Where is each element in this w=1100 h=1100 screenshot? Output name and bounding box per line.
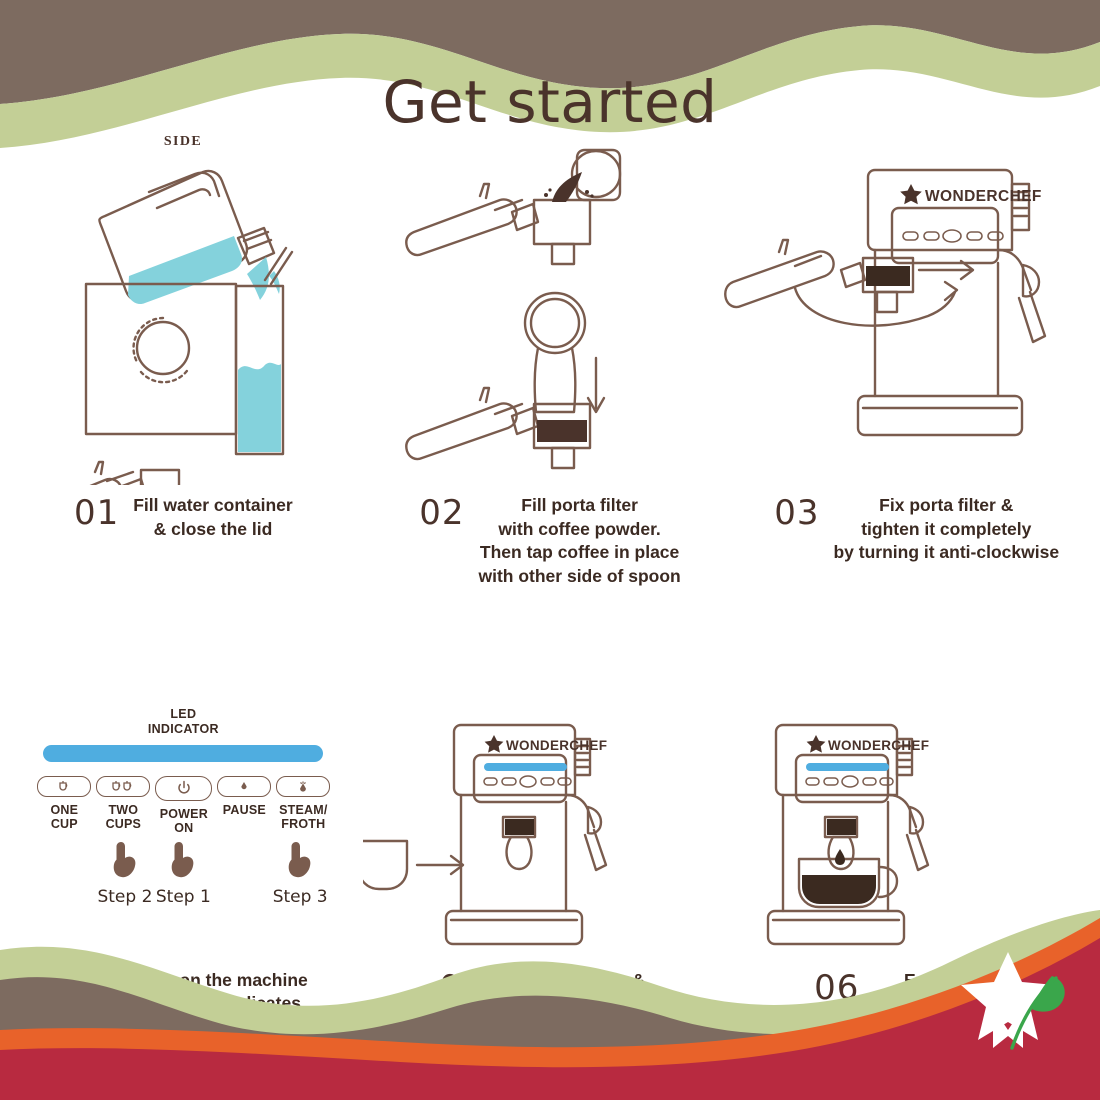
hand-slot-steam <box>271 841 329 885</box>
step-03-text: Fix porta filter & tighten it completely… <box>833 494 1059 565</box>
pause-label-1: PAUSE <box>223 803 266 817</box>
page-title: Get started <box>0 68 1100 136</box>
steps-row-1: SIDE <box>0 140 1100 589</box>
step-03-illustration: WONDERCHEF <box>733 140 1100 490</box>
step-card-04: LED INDICATOR ONE CUP <box>0 697 367 1064</box>
led-button-one-cup[interactable]: ONE CUP <box>37 776 91 835</box>
led-button-pause[interactable]: PAUSE <box>217 776 271 835</box>
step-03-line-3: by turning it anti-clockwise <box>833 541 1059 565</box>
led-button-row: ONE CUP TWO CUPS <box>37 776 329 835</box>
steam-froth-icon[interactable] <box>276 776 330 797</box>
step-06-line-4: with steamer <box>873 1039 1019 1063</box>
two-cups-label-1: TWO <box>106 803 142 817</box>
one-cup-label: ONE CUP <box>50 803 78 831</box>
led-indicator-panel: LED INDICATOR ONE CUP <box>33 697 333 907</box>
step-card-05: WONDERCHEF 05 <box>367 697 734 1064</box>
step-card-06: WONDERCHEF 06 <box>733 697 1100 1064</box>
power-label-1: POWER <box>160 807 208 821</box>
step-05-line-1: Place the cup & <box>498 969 660 993</box>
one-cup-label-2: CUP <box>50 817 78 831</box>
pointing-hand-icon <box>287 841 313 879</box>
step-02-line-1: Fill porta filter <box>479 494 681 518</box>
pointing-hand-icon <box>112 841 138 879</box>
steam-label-1: STEAM/ <box>279 803 327 817</box>
step-01-caption: 01 Fill water container & close the lid <box>0 490 367 541</box>
pointing-hands-row <box>37 841 329 885</box>
pause-icon[interactable] <box>217 776 271 797</box>
step-05-number: 05 <box>439 969 484 1005</box>
led-title-line-1: LED <box>33 707 333 722</box>
step-03-line-1: Fix porta filter & <box>833 494 1059 518</box>
hand-slot-pause <box>213 841 271 885</box>
step-03-caption: 03 Fix porta filter & tighten it complet… <box>733 490 1100 565</box>
step-06-caption: 06 Enjoy rich Espresso!!! Make cappuccin… <box>733 965 1100 1064</box>
two-cups-label: TWO CUPS <box>106 803 142 831</box>
step-01-line-1: Fill water container <box>133 494 292 518</box>
step-04-line-3: that machine is ready <box>118 1016 308 1040</box>
step-04-line-2: & blue light indicates <box>118 992 308 1016</box>
step-06-line-3: Make cappuccino <box>873 1016 1019 1040</box>
led-button-steam-froth[interactable]: STEAM/ FROTH <box>276 776 330 835</box>
step-05-line-2: select no. of serves <box>498 992 660 1016</box>
step-02-number: 02 <box>419 494 464 530</box>
hand-slot-two-cups <box>96 841 154 885</box>
led-title-line-2: INDICATOR <box>33 722 333 737</box>
two-cups-icon[interactable] <box>96 776 150 797</box>
brand-text-05: WONDERCHEF <box>506 738 607 753</box>
hand-slot-one-cup <box>37 841 95 885</box>
power-label-2: ON <box>160 821 208 835</box>
step-04-text: Switch on the machine & blue light indic… <box>118 969 308 1040</box>
led-button-two-cups[interactable]: TWO CUPS <box>96 776 150 835</box>
steam-froth-label: STEAM/ FROTH <box>279 803 327 831</box>
brand-text-03: WONDERCHEF <box>925 188 1042 205</box>
step-order-steam: Step 3 <box>271 887 329 907</box>
step-04-number: 04 <box>59 969 104 1005</box>
step-order-power: Step 1 <box>154 887 212 907</box>
step-06-number: 06 <box>814 969 859 1005</box>
step-02-illustration <box>367 140 734 490</box>
led-indicator-title: LED INDICATOR <box>33 707 333 737</box>
step-02-line-2: with coffee powder. <box>479 518 681 542</box>
step-01-line-2: & close the lid <box>133 518 292 542</box>
step-02-text: Fill porta filter with coffee powder. Th… <box>479 494 681 589</box>
step-06-line-1: Enjoy rich <box>873 969 1019 993</box>
step-04-caption: 04 Switch on the machine & blue light in… <box>0 965 367 1040</box>
steps-grid: SIDE <box>0 140 1100 1063</box>
step-02-caption: 02 Fill porta filter with coffee powder.… <box>367 490 734 589</box>
pointing-hand-icon <box>170 841 196 879</box>
step-05-caption: 05 Place the cup & select no. of serves <box>367 965 734 1016</box>
led-bar <box>43 745 323 762</box>
step-order-labels-row: Step 2 Step 1 Step 3 <box>37 887 329 907</box>
step-card-03: WONDERCHEF 03 <box>733 140 1100 589</box>
step-01-number: 01 <box>74 494 119 530</box>
step-06-text: Enjoy rich Espresso!!! Make cappuccino w… <box>873 969 1019 1064</box>
two-cups-label-2: CUPS <box>106 817 142 831</box>
step-06-illustration: WONDERCHEF <box>733 697 1100 947</box>
step-06-line-2: Espresso!!! <box>873 992 1019 1016</box>
step-04-illustration: LED INDICATOR ONE CUP <box>0 697 367 947</box>
hand-slot-power <box>154 841 212 885</box>
steam-label-2: FROTH <box>279 817 327 831</box>
step-05-illustration: WONDERCHEF <box>367 697 734 947</box>
brand-text-06: WONDERCHEF <box>828 738 929 753</box>
step-01-text: Fill water container & close the lid <box>133 494 292 541</box>
step-order-two-cups: Step 2 <box>96 887 154 907</box>
power-on-label: POWER ON <box>160 807 208 835</box>
power-icon[interactable] <box>155 776 212 801</box>
steps-row-2: LED INDICATOR ONE CUP <box>0 697 1100 1064</box>
step-03-line-2: tighten it completely <box>833 518 1059 542</box>
step-05-text: Place the cup & select no. of serves <box>498 969 660 1016</box>
step-04-line-1: Switch on the machine <box>118 969 308 993</box>
led-button-power-on[interactable]: POWER ON <box>155 776 212 835</box>
step-02-line-4: with other side of spoon <box>479 565 681 589</box>
step-card-01: SIDE <box>0 140 367 589</box>
side-view-label: SIDE <box>0 134 366 150</box>
one-cup-label-1: ONE <box>50 803 78 817</box>
pause-label: PAUSE <box>223 803 266 817</box>
step-01-illustration: SIDE <box>0 140 367 490</box>
one-cup-icon[interactable] <box>37 776 91 797</box>
step-02-line-3: Then tap coffee in place <box>479 541 681 565</box>
step-03-number: 03 <box>774 494 819 530</box>
infographic-page: Get started SIDE <box>0 0 1100 1100</box>
step-card-02: 02 Fill porta filter with coffee powder.… <box>367 140 734 589</box>
